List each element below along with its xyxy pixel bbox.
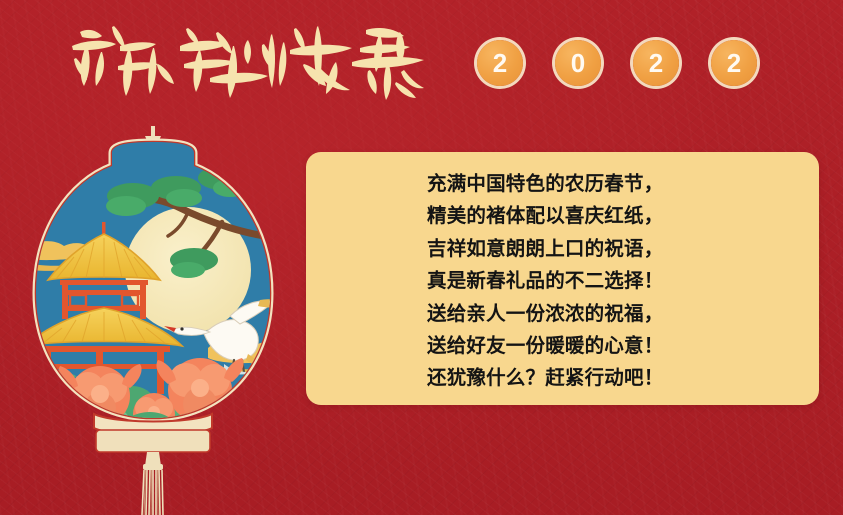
year-badge-group: 2 0 2 2 (477, 40, 757, 86)
year-digit-0: 2 (477, 40, 523, 86)
year-digit-1: 0 (555, 40, 601, 86)
message-line: 送给好友一份暖暖的心意！ (306, 330, 819, 362)
year-digit-3: 2 (711, 40, 757, 86)
message-line: 送给亲人一份浓浓的祝福， (306, 298, 819, 330)
message-line: 真是新春礼品的不二选择！ (306, 265, 819, 297)
message-card: 充满中国特色的农历春节， 精美的褚体配以喜庆红纸， 吉祥如意朗朗上口的祝语， 真… (306, 152, 819, 405)
tassel (142, 452, 163, 515)
lantern-scene (18, 128, 292, 440)
message-line: 还犹豫什么？赶紧行动吧！ (306, 362, 819, 394)
message-line: 吉祥如意朗朗上口的祝语， (306, 233, 819, 265)
new-year-poster: 2 0 2 2 充满中国特色的农历春节， 精美的褚体配以喜庆红纸， 吉祥如意朗朗… (0, 0, 843, 515)
message-line: 充满中国特色的农历春节， (306, 168, 819, 200)
message-line: 精美的褚体配以喜庆红纸， (306, 200, 819, 232)
year-digit-2: 2 (633, 40, 679, 86)
lantern-illustration (8, 118, 298, 515)
headline-calligraphy (58, 6, 438, 106)
message-line-list: 充满中国特色的农历春节， 精美的褚体配以喜庆红纸， 吉祥如意朗朗上口的祝语， 真… (306, 168, 819, 395)
